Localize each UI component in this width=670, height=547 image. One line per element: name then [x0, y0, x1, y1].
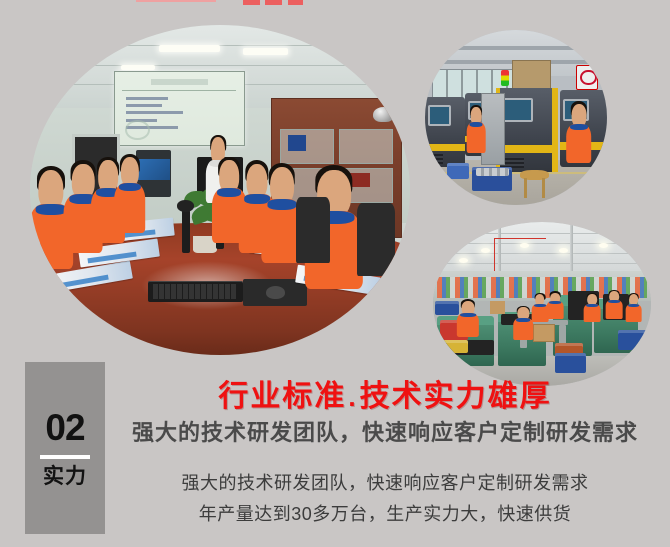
training-room-scene	[30, 25, 410, 355]
keyboard	[148, 281, 243, 302]
photo-assembly-line	[433, 222, 651, 386]
headline-red-left: 行业标准	[218, 380, 346, 413]
trainee	[117, 157, 142, 233]
line-worker	[586, 294, 599, 322]
machine-operator	[469, 107, 484, 153]
parts-crate	[555, 353, 586, 373]
body-line-1: 强大的技术研发团队，快速响应客户定制研发需求	[110, 468, 660, 499]
badge-number: 02	[45, 409, 84, 446]
parts-crate	[618, 330, 646, 350]
parts-crate	[472, 167, 512, 192]
heading-remnant-glyph	[288, 0, 303, 5]
line-worker	[607, 291, 620, 319]
body-line-2: 年产量达到30多万台，生产实力大，快速供货	[110, 499, 660, 530]
badge-divider	[40, 455, 90, 459]
projection-screen	[114, 71, 245, 146]
badge-label: 实力	[43, 466, 87, 487]
mouse	[266, 286, 285, 299]
heading-remnant-bar	[136, 0, 216, 2]
line-worker	[627, 294, 640, 322]
line-worker	[549, 293, 562, 319]
line-worker	[533, 294, 546, 322]
cnc-machine	[496, 88, 558, 172]
line-worker	[516, 307, 531, 340]
strength-banner: 02 实力 行业标准.技术实力雄厚 强大的技术研发团队，快速响应客户定制研发需求…	[0, 0, 670, 547]
cnc-workshop-scene	[425, 30, 607, 205]
strength-info-block: 行业标准.技术实力雄厚 强大的技术研发团队，快速响应客户定制研发需求 强大的技术…	[110, 380, 660, 530]
headline-subtitle: 强大的技术研发团队，快速响应客户定制研发需求	[110, 420, 660, 446]
cropped-heading-remnants	[0, 0, 670, 7]
headline-red: 行业标准.技术实力雄厚	[110, 380, 660, 413]
headline-red-right: 技术实力雄厚	[360, 380, 552, 413]
machine-operator	[569, 104, 589, 164]
andon-light	[501, 70, 508, 86]
parts-crate	[440, 340, 468, 353]
parts-crate	[435, 301, 459, 316]
headline-red-dot: .	[346, 382, 359, 412]
assembly-line-scene	[433, 222, 651, 386]
trainee	[266, 167, 298, 263]
safety-sign-icon	[576, 65, 598, 90]
cnc-machine	[425, 97, 465, 167]
line-worker	[459, 301, 476, 337]
section-number-badge: 02 实力	[25, 362, 105, 534]
work-stool	[520, 170, 549, 198]
heading-remnant-glyph	[243, 0, 260, 5]
photo-training-room	[30, 25, 410, 355]
heading-remnant-glyph	[265, 0, 282, 5]
photo-cnc-workshop	[425, 30, 607, 205]
parts-crate	[447, 163, 469, 179]
